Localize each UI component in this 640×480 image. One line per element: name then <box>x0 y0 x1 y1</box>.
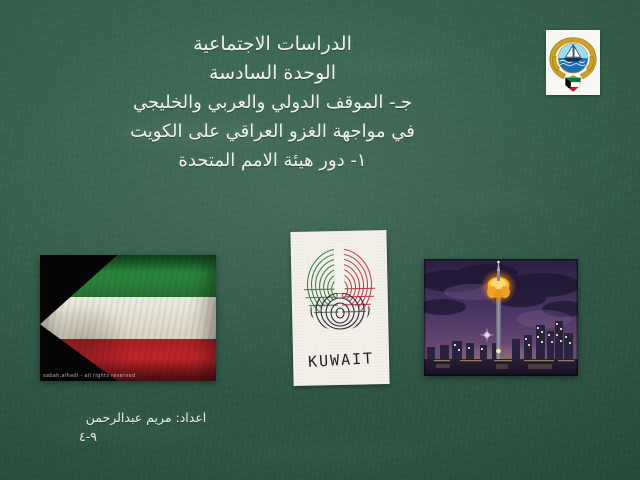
title-line-topic-c: جـ- الموقف الدولي والعربي والخليجي <box>0 88 545 117</box>
kuwait-liberation-tower-photo <box>424 259 578 376</box>
chalk-smudge <box>430 190 570 210</box>
credit-author: اعداد: مريم عبدالرحمن <box>0 408 292 427</box>
kuwait-fingerprint-card: KUWAIT <box>290 230 389 386</box>
title-line-item-1: ١- دور هيئة الامم المتحدة <box>0 146 545 175</box>
title-line-unit: الوحدة السادسة <box>0 59 545 88</box>
credit-class: ٩-٤ <box>0 427 292 446</box>
slide-title-block: الدراسات الاجتماعية الوحدة السادسة جـ- ا… <box>0 30 545 175</box>
title-line-topic-c2: في مواجهة الغزو العراقي على الكويت <box>0 117 545 146</box>
fingerprint-icon <box>298 238 382 344</box>
title-line-subject: الدراسات الاجتماعية <box>0 30 545 59</box>
kuwait-emblem-image <box>546 30 600 95</box>
flag-vignette <box>40 255 216 381</box>
presentation-slide: الدراسات الاجتماعية الوحدة السادسة جـ- ا… <box>0 0 640 480</box>
kuwait-flag-photo: sabah.alhadi - all rights reserved <box>40 255 216 381</box>
flag-watermark-text: sabah.alhadi - all rights reserved <box>43 373 135 379</box>
author-credit-block: اعداد: مريم عبدالرحمن ٩-٤ <box>0 408 292 446</box>
